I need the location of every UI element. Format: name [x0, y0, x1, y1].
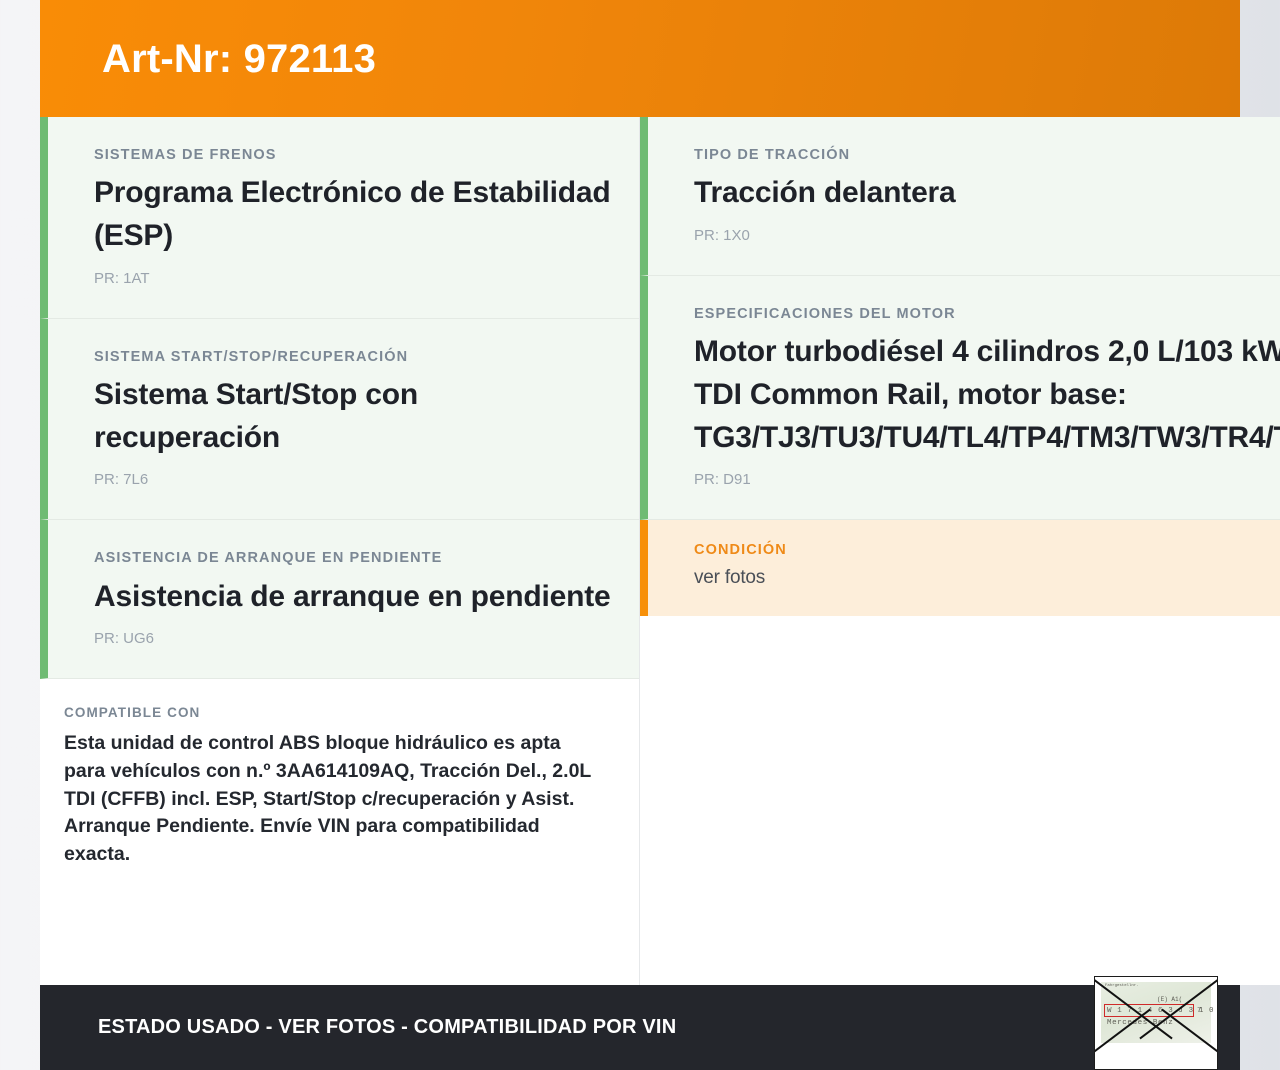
spec-value: Motor turbodiésel 4 cilindros 2,0 L/103 …	[694, 331, 1280, 459]
spec-pr-code: PR: 7L6	[94, 471, 611, 489]
compatibility-section: COMPATIBLE CON Esta unidad de control AB…	[40, 679, 639, 985]
spec-card-drive-type: TIPO DE TRACCIÓN Tracción delantera PR: …	[640, 117, 1280, 276]
condition-value: ver fotos	[694, 566, 1280, 591]
spec-card-brakes: SISTEMAS DE FRENOS Programa Electrónico …	[40, 117, 639, 319]
spec-value: Sistema Start/Stop con recuperación	[94, 374, 611, 459]
spec-card-engine: ESPECIFICACIONES DEL MOTOR Motor turbodi…	[640, 276, 1280, 520]
spec-card-hill-assist: ASISTENCIA DE ARRANQUE EN PENDIENTE Asis…	[40, 520, 639, 679]
right-column: TIPO DE TRACCIÓN Tracción delantera PR: …	[640, 117, 1280, 985]
spec-label: SISTEMAS DE FRENOS	[94, 147, 611, 164]
document-vin-tail: 7	[1197, 1007, 1202, 1015]
compatibility-label: COMPATIBLE CON	[64, 705, 593, 720]
spec-label: TIPO DE TRACCIÓN	[694, 147, 1280, 164]
condition-label: CONDICIÓN	[694, 542, 1280, 559]
spec-label: ESPECIFICACIONES DEL MOTOR	[694, 306, 1280, 323]
product-spec-sheet: Art-Nr: 972113 SISTEMAS DE FRENOS Progra…	[40, 0, 1240, 1070]
document-code: (E) A1(	[1157, 996, 1182, 1003]
spec-pr-code: PR: D91	[694, 471, 1280, 489]
spec-pr-code: PR: UG6	[94, 630, 611, 648]
right-column-filler	[640, 616, 1280, 985]
spec-label: SISTEMA START/STOP/RECUPERACIÓN	[94, 349, 611, 366]
document-caption: Fahrgestellnr.	[1105, 984, 1139, 988]
spec-pr-code: PR: 1X0	[694, 227, 1280, 245]
spec-columns: SISTEMAS DE FRENOS Programa Electrónico …	[40, 117, 1240, 985]
condition-card: CONDICIÓN ver fotos	[640, 520, 1280, 616]
spec-value: Programa Electrónico de Estabilidad (ESP…	[94, 172, 611, 257]
spec-value: Asistencia de arranque en pendiente	[94, 576, 611, 619]
page-title: Art-Nr: 972113	[102, 39, 376, 79]
spec-pr-code: PR: 1AT	[94, 270, 611, 288]
footer-banner-text: ESTADO USADO - VER FOTOS - COMPATIBILIDA…	[98, 1016, 676, 1039]
left-column: SISTEMAS DE FRENOS Programa Electrónico …	[40, 117, 640, 985]
envelope-icon: Fahrgestellnr. (E) A1( W 1 7 1 4 6 3 J 3…	[1094, 976, 1218, 1070]
page-header: Art-Nr: 972113	[40, 0, 1240, 117]
compatibility-text: Esta unidad de control ABS bloque hidráu…	[64, 730, 593, 868]
spec-label: ASISTENCIA DE ARRANQUE EN PENDIENTE	[94, 550, 611, 567]
spec-card-startstop: SISTEMA START/STOP/RECUPERACIÓN Sistema …	[40, 319, 639, 521]
spec-value: Tracción delantera	[694, 172, 1280, 215]
page-footer: ESTADO USADO - VER FOTOS - COMPATIBILIDA…	[40, 985, 1240, 1070]
